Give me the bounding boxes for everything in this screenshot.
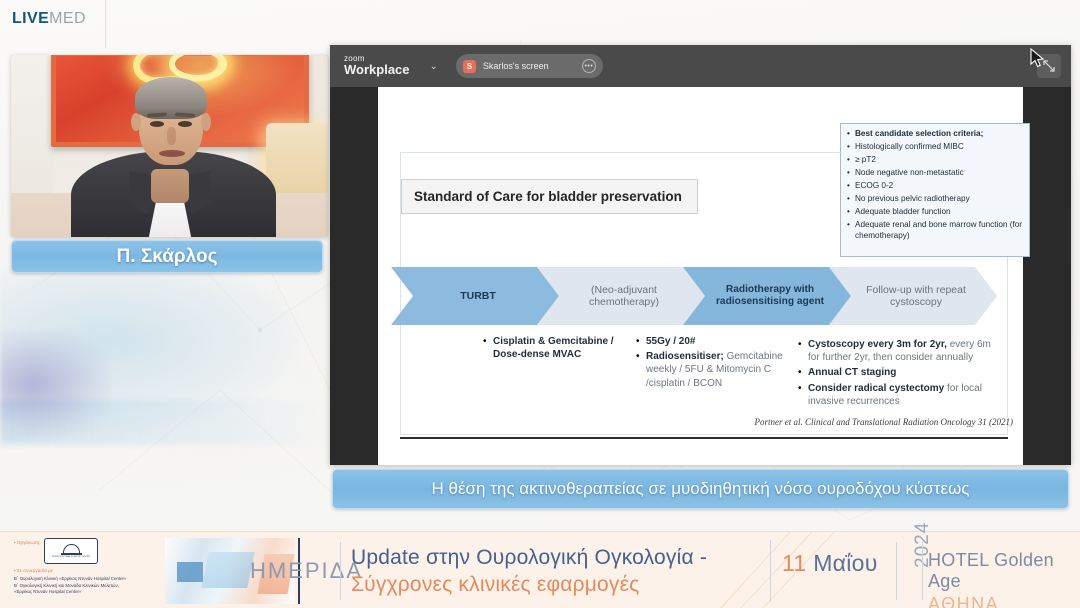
slide-bullet-item: •Radiosensitiser; Gemcitabine weekly / 5…	[636, 350, 791, 390]
more-options-icon[interactable]: •••	[582, 59, 596, 73]
bullet-icon: •	[798, 382, 808, 408]
livemed-logo: LIVEMED	[12, 10, 86, 28]
background-purple-wash	[0, 330, 110, 440]
chevron-down-icon[interactable]: ⌄	[424, 57, 444, 76]
hospital-logo: ΕΡΡΙΚΟΣ ΝΤΥΝΑΝ HOSPITAL CENTER	[44, 538, 98, 564]
venue-name: HOTEL Golden Age	[928, 550, 1080, 592]
flow-step-label: (Neo-adjuvant chemotherapy)	[559, 284, 689, 309]
bullet-icon: •	[483, 335, 493, 361]
flow-step: TURBT	[391, 267, 559, 325]
cooperation-label: • Σε συνεργασία με	[14, 568, 164, 573]
flow-step-label: Radiotherapy with radiosensitising agent	[705, 284, 835, 308]
bullet-column-1: •Cisplatin & Gemcitabine / Dose-dense MV…	[483, 335, 623, 363]
slide-bullet-head: Cisplatin & Gemcitabine / Dose-dense MVA…	[493, 336, 614, 360]
session-title-banner: Η θέση της ακτινοθεραπείας σε μυοδιηθητι…	[332, 469, 1069, 509]
cooperation-line-3: «Ερρίκος Ντυνάν Hospital Center»	[14, 589, 164, 596]
event-venue: HOTEL Golden Age ΑΘΗΝΑ	[928, 550, 1080, 608]
slide-bullet-head: Cystoscopy every 3m for 2yr,	[808, 339, 947, 350]
slide-bullet-item: •Consider radical cystectomy for local i…	[798, 382, 1003, 408]
criteria-item: •Best candidate selection criteria;	[847, 129, 1023, 140]
session-title-text: Η θέση της ακτινοθεραπείας σε μυοδιηθητι…	[432, 479, 970, 499]
video-speaker-mouth	[159, 150, 185, 157]
video-speaker-hair	[135, 77, 207, 119]
event-month: Μαΐου	[813, 550, 877, 576]
shared-screen-stage: Standard of Care for bladder preservatio…	[330, 87, 1071, 465]
hospital-logo-base	[61, 553, 82, 554]
flow-step: (Neo-adjuvant chemotherapy)	[537, 267, 705, 325]
speaker-name-label: Π. Σκάρλος	[117, 246, 218, 268]
event-date-text: 11 Μαΐου	[782, 550, 878, 576]
slide-bullet-item: •55Gy / 20#	[636, 335, 791, 348]
speaker-video-tile[interactable]	[11, 55, 328, 237]
criteria-item-label: Histologically confirmed MIBC	[855, 142, 964, 153]
criteria-item: •≥ pT2	[847, 155, 1023, 166]
flow-step-label: TURBT	[460, 290, 496, 302]
bullet-icon: •	[636, 335, 646, 348]
conference-title: Update στην Ουρολογική Ογκολογία - Σύγχρ…	[351, 546, 707, 597]
cooperation-line-1: Β΄ Ουρολογική Κλινική «Ερρίκος Ντυνάν Ho…	[14, 576, 164, 583]
slide-bullet-head: Consider radical cystectomy	[808, 383, 944, 394]
zoom-share-window: zoom Workplace ⌄ S Skarlos's screen ••• …	[330, 45, 1071, 465]
event-day: 11	[782, 550, 806, 576]
slide-bullet-item: •Annual CT staging	[798, 366, 1003, 379]
criteria-item-label: Node negative non-metastatic	[855, 168, 964, 179]
footer-divider-3	[896, 542, 897, 600]
screen-share-tab[interactable]: S Skarlos's screen •••	[456, 54, 603, 78]
screen-share-label: Skarlos's screen	[483, 61, 549, 71]
hospital-logo-dome-icon	[63, 544, 80, 553]
footer-divider-2	[770, 540, 771, 602]
bullet-icon: •	[847, 155, 855, 166]
slide-bullet-head: Radiosensitiser;	[646, 351, 724, 362]
flow-step: Follow-up with repeat cystoscopy	[829, 267, 997, 325]
bullet-icon: •	[847, 220, 855, 241]
slide-bullet-head: 55Gy / 20#	[646, 336, 695, 347]
conference-subtitle: Σύγχρονες κλινικές εφαρμογές	[351, 573, 707, 597]
hospital-logo-text: ΕΡΡΙΚΟΣ ΝΤΥΝΑΝ HOSPITAL CENTER	[52, 556, 90, 559]
speaker-video-frame	[11, 55, 328, 237]
cooperation-line-2: Β΄ Ογκολογική Κλινική και Μονάδα Κλινικώ…	[14, 583, 164, 590]
slide-bullet-item: •Cystoscopy every 3m for 2yr, every 6m f…	[798, 338, 1003, 364]
zoom-toolbar: zoom Workplace ⌄ S Skarlos's screen •••	[330, 45, 1071, 87]
bullet-icon: •	[636, 350, 646, 390]
bullet-icon: •	[847, 142, 855, 153]
video-speaker-eye-left	[150, 121, 164, 127]
flow-step-label: Follow-up with repeat cystoscopy	[851, 284, 981, 309]
zoom-brand-line2: Workplace	[344, 63, 410, 77]
criteria-item: •ECOG 0-2	[847, 181, 1023, 192]
slide-title: Standard of Care for bladder preservatio…	[414, 189, 682, 204]
slide-bottom-rule	[400, 437, 1008, 439]
logo-divider	[105, 0, 106, 48]
presentation-slide: Standard of Care for bladder preservatio…	[378, 87, 1023, 465]
flow-step: Radiotherapy with radiosensitising agent	[683, 267, 851, 325]
video-speaker-ear-left	[131, 113, 141, 131]
bullet-icon: •	[847, 181, 855, 192]
slide-bullet-item: •Cisplatin & Gemcitabine / Dose-dense MV…	[483, 335, 623, 361]
criteria-item-label: ≥ pT2	[855, 155, 876, 166]
bullet-column-3: •Cystoscopy every 3m for 2yr, every 6m f…	[798, 338, 1003, 410]
video-speaker-neck	[151, 169, 189, 203]
slide-bullet-head: Annual CT staging	[808, 367, 896, 378]
bullet-icon: •	[847, 168, 855, 179]
criteria-item: •Histologically confirmed MIBC	[847, 142, 1023, 153]
footer-divider-4	[922, 542, 923, 600]
criteria-item: •Adequate renal and bone marrow function…	[847, 220, 1023, 241]
criteria-item-label: ECOG 0-2	[855, 181, 893, 192]
bullet-icon: •	[798, 338, 808, 364]
bullet-icon: •	[847, 129, 855, 140]
venue-city: ΑΘΗΝΑ	[928, 594, 1080, 608]
video-speaker-nose	[167, 127, 176, 145]
speaker-nameplate: Π. Σκάρλος	[11, 240, 323, 273]
criteria-item-label: No previous pelvic radiotherapy	[855, 194, 970, 205]
bullet-column-2: •55Gy / 20#•Radiosensitiser; Gemcitabine…	[636, 335, 791, 392]
imerida-label: ΗΜΕΡΙΔΑ	[250, 558, 363, 584]
criteria-item-label: Adequate renal and bone marrow function …	[855, 220, 1023, 241]
zoom-workplace-brand: zoom Workplace	[344, 55, 410, 77]
event-date: 11 Μαΐου	[782, 550, 878, 577]
criteria-item-label: Adequate bladder function	[855, 207, 951, 218]
logo-live-text: LIVE	[12, 10, 49, 27]
logo-med-text: MED	[49, 10, 86, 27]
criteria-item: •Node negative non-metastatic	[847, 168, 1023, 179]
video-speaker-eye-right	[178, 121, 192, 127]
criteria-item: •No previous pelvic radiotherapy	[847, 194, 1023, 205]
conference-footer: • Οργάνωση: • Σε συνεργασία με Β΄ Ουρολο…	[0, 531, 1080, 608]
slide-title-box: Standard of Care for bladder preservatio…	[401, 179, 698, 214]
criteria-item-label: Best candidate selection criteria;	[855, 129, 983, 140]
conference-title-line1: Update στην Ουρολογική Ογκολογία -	[351, 546, 707, 570]
bullet-icon: •	[847, 194, 855, 205]
footer-divider-1	[340, 542, 341, 600]
video-speaker-ear-right	[201, 113, 211, 131]
video-lamp	[266, 123, 328, 193]
criteria-item: •Adequate bladder function	[847, 207, 1023, 218]
criteria-callout-box: •Best candidate selection criteria;•Hist…	[840, 123, 1030, 257]
treatment-flow-diagram: TURBT(Neo-adjuvant chemotherapy)Radiothe…	[391, 267, 1011, 325]
bullet-icon: •	[798, 366, 808, 379]
avatar: S	[463, 60, 476, 73]
bullet-icon: •	[847, 207, 855, 218]
slide-citation: Portner et al. Clinical and Translationa…	[678, 417, 1013, 427]
mouse-cursor-icon	[1030, 48, 1046, 70]
